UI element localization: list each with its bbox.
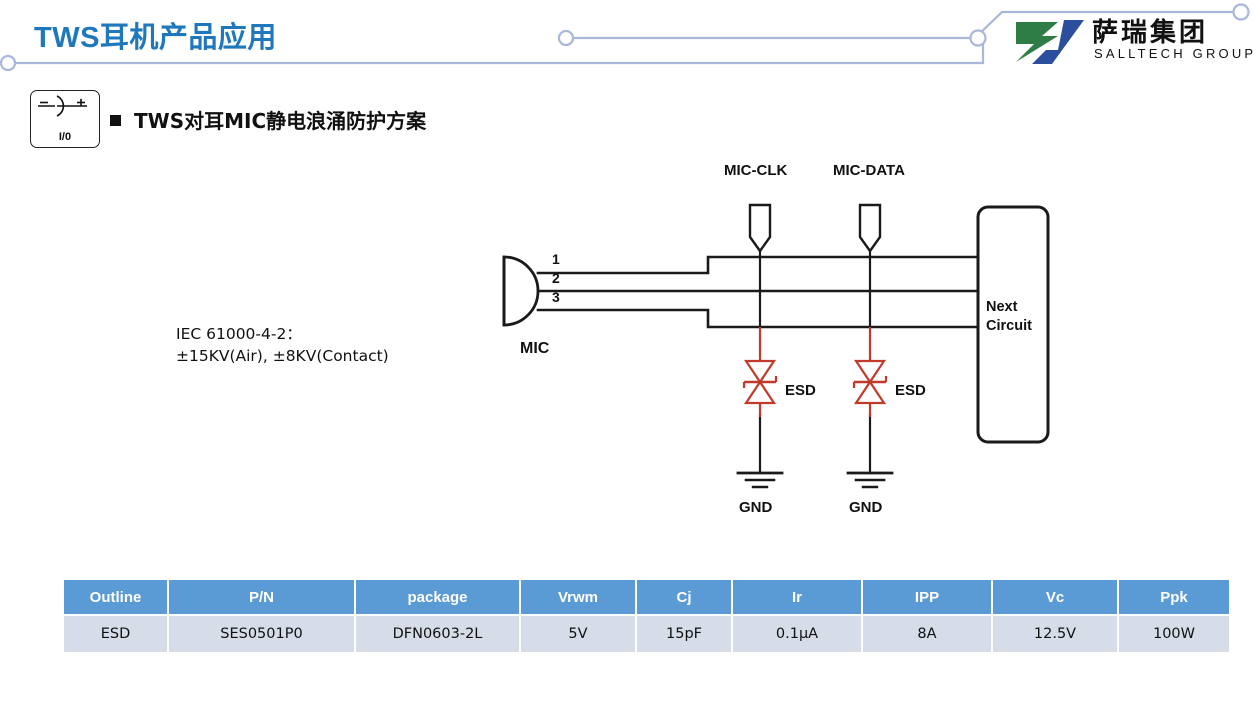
pin-label-3: 3 — [552, 289, 560, 305]
company-logo: 萨瑞集团 SALLTECH GROUP — [1012, 14, 1244, 72]
iec-standard-note: IEC 61000-4-2： ±15KV(Air), ±8KV(Contact) — [176, 323, 389, 367]
next-circuit-line1: Next — [986, 298, 1032, 317]
logo-name-en: SALLTECH GROUP — [1094, 46, 1254, 61]
salltech-logo-mark — [1012, 14, 1090, 70]
io-badge: I/0 — [30, 90, 100, 148]
table-row: ESD SES0501P0 DFN0603-2L 5V 15pF 0.1μA 8… — [64, 616, 1229, 652]
table-header-cell: package — [356, 580, 519, 614]
table-cell: ESD — [64, 616, 167, 652]
mic-label: MIC — [520, 340, 549, 358]
signal-label-mic-clk: MIC-CLK — [724, 162, 787, 179]
table-cell: 15pF — [637, 616, 731, 652]
mic-symbol — [504, 257, 538, 325]
iec-note-line1: IEC 61000-4-2： — [176, 323, 389, 345]
gnd-symbol-2 — [848, 473, 892, 487]
diode-io-icon — [31, 91, 97, 129]
gnd-label-1: GND — [739, 499, 772, 516]
pin-label-1: 1 — [552, 251, 560, 267]
table-header-cell: Ir — [733, 580, 861, 614]
table-header-cell: Vrwm — [521, 580, 635, 614]
io-badge-label: I/0 — [31, 131, 99, 143]
table-header-cell: Ppk — [1119, 580, 1229, 614]
mic-clk-connector-icon — [750, 205, 770, 251]
iec-note-line2: ±15KV(Air), ±8KV(Contact) — [176, 345, 389, 367]
table-cell: 8A — [863, 616, 991, 652]
table-cell: 5V — [521, 616, 635, 652]
table-cell: SES0501P0 — [169, 616, 354, 652]
table-cell: 12.5V — [993, 616, 1117, 652]
table-cell: 100W — [1119, 616, 1229, 652]
table-header-cell: Cj — [637, 580, 731, 614]
table-cell: 0.1μA — [733, 616, 861, 652]
esd-diode-2 — [854, 327, 886, 417]
section-heading: TWS对耳MIC静电浪涌防护方案 — [110, 105, 426, 134]
table-header-cell: P/N — [169, 580, 354, 614]
table-header-cell: IPP — [863, 580, 991, 614]
page-header: TWS耳机产品应用 萨瑞集团 SALLTECH GROUP — [0, 0, 1254, 90]
gnd-symbol-1 — [738, 473, 782, 487]
spec-table: Outline P/N package Vrwm Cj Ir IPP Vc Pp… — [62, 578, 1231, 654]
table-cell: DFN0603-2L — [356, 616, 519, 652]
circuit-schematic: MIC 1 2 3 MIC-CLK MIC-DATA ESD ESD GND G… — [480, 155, 1090, 545]
signal-label-mic-data: MIC-DATA — [833, 162, 905, 179]
mic-data-connector-icon — [860, 205, 880, 251]
esd-diode-1 — [744, 327, 776, 417]
pin-label-2: 2 — [552, 270, 560, 286]
section-heading-text: TWS对耳MIC静电浪涌防护方案 — [134, 109, 426, 133]
next-circuit-line2: Circuit — [986, 317, 1032, 336]
gnd-label-2: GND — [849, 499, 882, 516]
logo-name-cn: 萨瑞集团 — [1092, 12, 1208, 49]
table-header-cell: Vc — [993, 580, 1117, 614]
table-header-cell: Outline — [64, 580, 167, 614]
table-header-row: Outline P/N package Vrwm Cj Ir IPP Vc Pp… — [64, 580, 1229, 614]
section-bullet-icon — [110, 115, 121, 126]
next-circuit-label: Next Circuit — [986, 298, 1032, 336]
esd-label-1: ESD — [785, 382, 816, 399]
esd-label-2: ESD — [895, 382, 926, 399]
